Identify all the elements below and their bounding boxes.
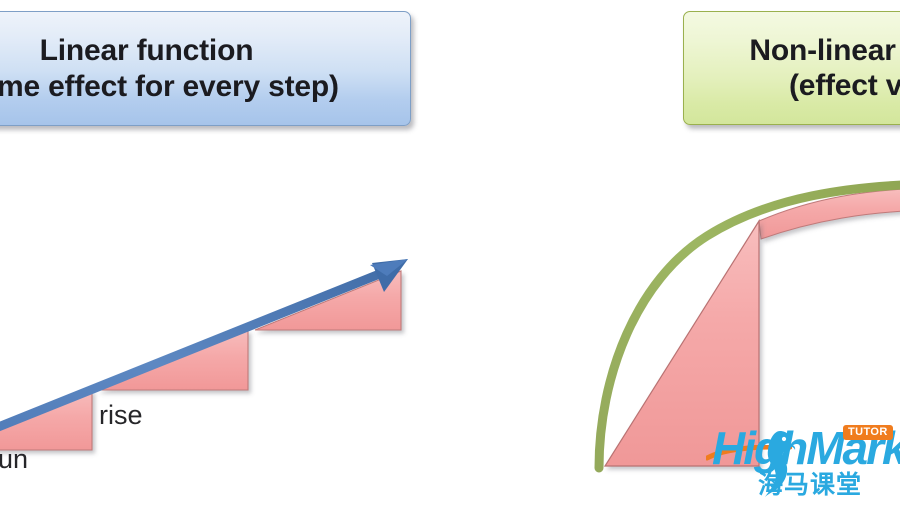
rise-label: rise bbox=[99, 400, 143, 431]
non-linear-slope-diagram bbox=[575, 160, 900, 506]
linear-callout-line1: Linear function bbox=[40, 33, 254, 68]
nonlinear-callout-line1: Non-linear function bbox=[749, 33, 900, 68]
slide-canvas: Linear function (same effect for every s… bbox=[0, 0, 900, 506]
linear-slope-diagram bbox=[0, 235, 420, 506]
non-linear-function-callout[interactable]: Non-linear function (effect varies) bbox=[683, 11, 900, 125]
nonlinear-callout-line2: (effect varies) bbox=[789, 68, 900, 103]
run-label: run bbox=[0, 444, 28, 475]
linear-callout-line2: (same effect for every step) bbox=[0, 69, 339, 104]
linear-function-callout[interactable]: Linear function (same effect for every s… bbox=[0, 11, 411, 126]
